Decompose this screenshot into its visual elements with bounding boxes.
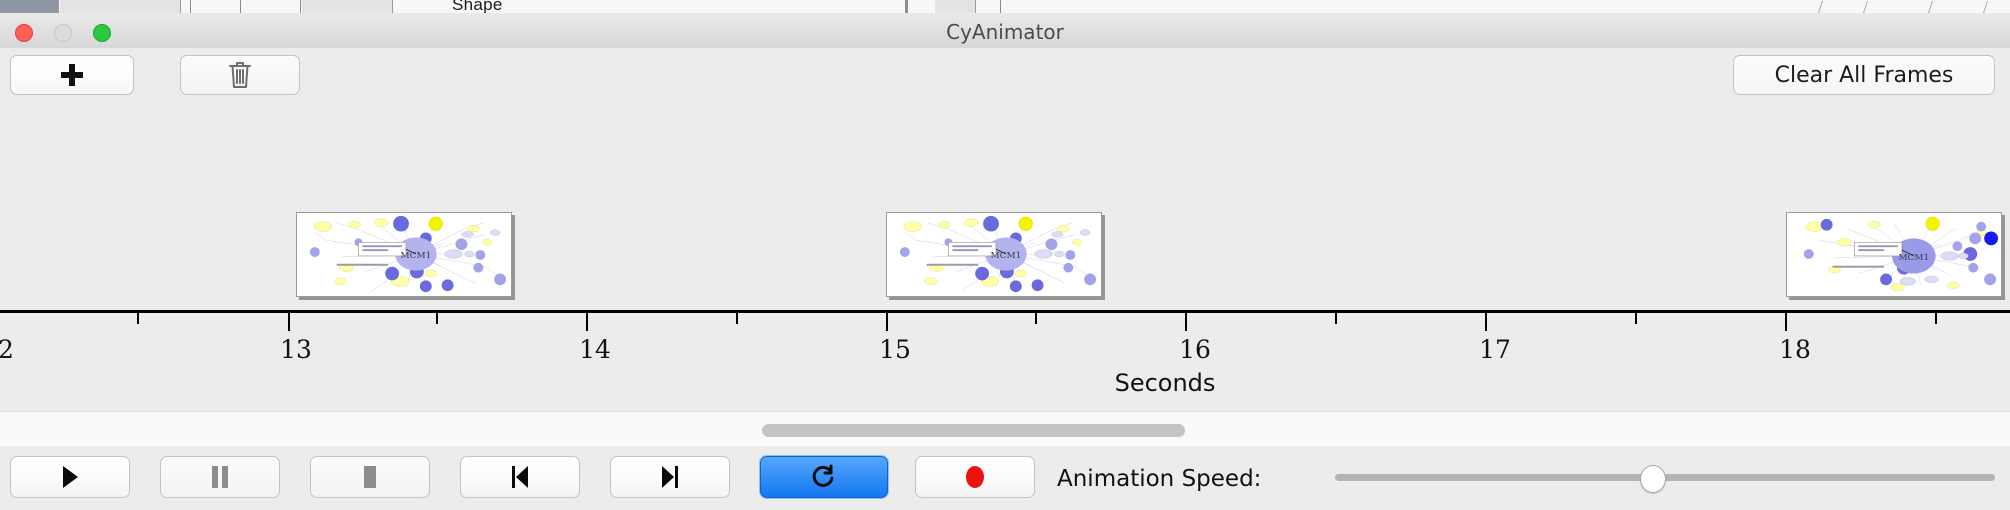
axis-title-seconds: Seconds [1115,369,1216,397]
axis-major-tick [1785,313,1787,331]
axis-tick-label: 14 [579,335,611,364]
timeline-panel[interactable]: MCM1 [0,96,2010,411]
svg-text:MCM1: MCM1 [991,251,1022,261]
axis-minor-tick [1635,313,1637,324]
bg-window-label: Shape [452,0,503,14]
bg-tab-1 [0,0,59,13]
axis-tick-label: 15 [879,335,911,364]
animation-speed-label: Animation Speed: [1057,466,1261,492]
delete-frame-button[interactable] [180,55,300,95]
axis-major-tick [886,313,888,331]
clear-all-frames-button[interactable]: Clear All Frames [1733,55,1995,95]
skip-start-icon [509,465,531,489]
axis-minor-tick [1035,313,1037,324]
pause-button[interactable] [160,456,280,498]
add-frame-button[interactable] [10,55,134,95]
bg-tab-2 [60,0,181,13]
frame-thumbnail-network: MCM1 [887,213,1101,296]
pause-icon [210,465,230,489]
frame-thumbnail-network: MCM1 [297,213,511,296]
timeline-axis [0,310,2010,313]
stop-icon [360,465,380,489]
bg-divider-5 [1000,0,1001,13]
bg-divider-7 [1863,1,1868,13]
skip-end-button[interactable] [610,456,730,498]
title-bar[interactable]: CyAnimator [0,13,2010,49]
trash-icon [227,60,253,90]
loop-icon [812,464,836,490]
network-thumbnail-svg: MCM1 [887,213,1101,296]
bg-divider-1 [190,0,191,13]
cyanimator-window: Shape CyAnimator [0,0,2010,510]
timeline-frame-1[interactable]: MCM1 [296,212,512,297]
bg-divider-4 [905,0,908,13]
stop-button[interactable] [310,456,430,498]
bg-tab-4 [935,0,976,13]
clear-all-frames-label: Clear All Frames [1775,63,1954,88]
background-window-strip: Shape [0,0,2010,14]
scrollbar-thumb[interactable] [762,424,1185,437]
animation-speed-slider-thumb[interactable] [1640,465,1666,493]
axis-major-tick [1485,313,1487,331]
plus-icon [60,63,84,87]
loop-button[interactable] [760,456,888,498]
record-icon [964,464,986,490]
axis-major-tick [586,313,588,331]
frame-toolbar: Clear All Frames [0,48,2010,97]
player-bar: Animation Speed: [0,446,2010,510]
bg-divider-2 [240,0,241,13]
skip-end-icon [659,465,681,489]
bg-divider-8 [1928,1,1933,13]
svg-text:MCM1: MCM1 [401,251,432,261]
play-button[interactable] [10,456,130,498]
bg-divider-6 [1818,1,1823,13]
axis-tick-label: 2 [0,335,14,364]
timeline-frame-2[interactable]: MCM1 [886,212,1102,297]
axis-tick-label: 17 [1479,335,1511,364]
axis-major-tick [288,313,290,331]
network-thumbnail-svg: MCM1 [1787,213,2001,296]
play-icon [60,465,80,489]
axis-minor-tick [436,313,438,324]
network-thumbnail-svg: MCM1 [297,213,511,296]
timeline-frame-3[interactable]: MCM1 [1786,212,2002,297]
axis-tick-label: 16 [1179,335,1211,364]
axis-minor-tick [1335,313,1337,324]
axis-major-tick [1185,313,1187,331]
svg-text:MCM1: MCM1 [1898,253,1929,263]
axis-minor-tick [137,313,139,324]
record-button[interactable] [915,456,1035,498]
bg-tab-3 [302,0,393,13]
skip-start-button[interactable] [460,456,580,498]
bg-divider-3 [300,0,301,13]
axis-tick-label: 13 [280,335,312,364]
axis-minor-tick [736,313,738,324]
axis-tick-label: 18 [1779,335,1811,364]
window-title: CyAnimator [0,20,2010,44]
frame-thumbnail-network: MCM1 [1787,213,2001,296]
timeline-scrollbar[interactable] [0,411,2010,447]
bg-divider-9 [1983,1,1988,13]
axis-minor-tick [1935,313,1937,324]
